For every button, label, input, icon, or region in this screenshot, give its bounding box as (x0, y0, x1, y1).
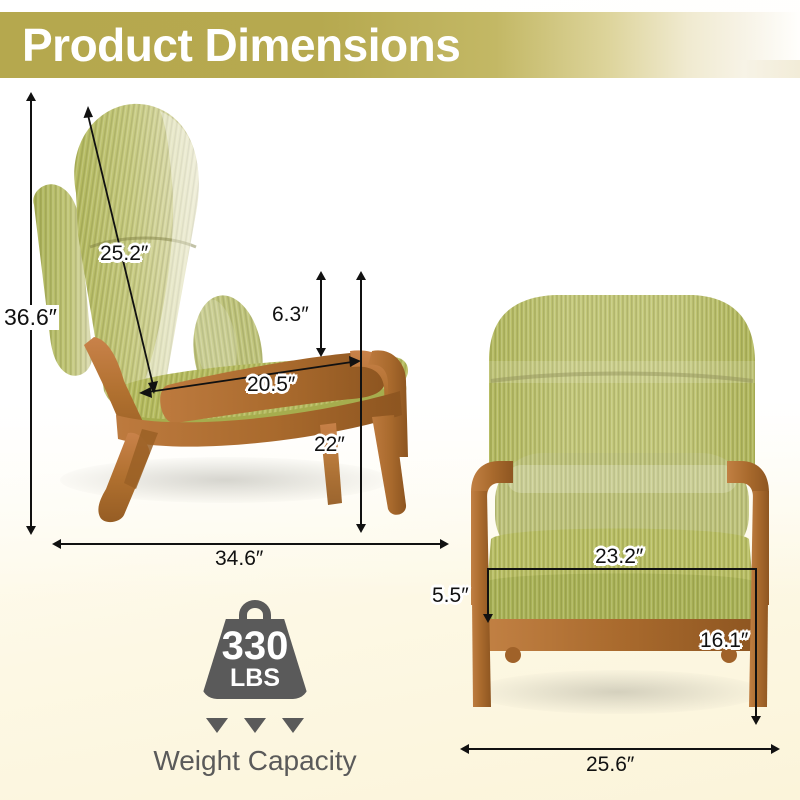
dim-seat-height-label: 16.1″ (700, 630, 748, 651)
dim-seat-height-arrow (751, 716, 761, 725)
front-chair-illustration (455, 275, 785, 775)
dim-seat-width-label: 23.2″ (595, 546, 643, 567)
dim-overall-height-arrow-top (26, 92, 36, 101)
header-banner: Product Dimensions (0, 12, 800, 78)
weight-capacity-unit: LBS (187, 666, 323, 691)
triangle-down-icon (206, 718, 228, 733)
side-view-chair (20, 85, 440, 535)
dim-armrest-height-line (320, 278, 322, 352)
dim-backrest-length-label: 25.2″ (100, 243, 148, 264)
page-title: Product Dimensions (0, 22, 460, 68)
dim-arm-height-arrow-bottom (356, 524, 366, 533)
dim-armrest-height-arrow-top (316, 271, 326, 280)
weight-capacity-block: 330 LBS Weight Capacity (130, 600, 380, 777)
dim-overall-height-arrow-bottom (26, 526, 36, 535)
dim-seat-depth-label: 20.5″ (247, 374, 295, 395)
dim-seat-height-line (755, 568, 757, 720)
weight-capacity-caption: Weight Capacity (130, 745, 380, 777)
dim-overall-width-label: 25.6″ (586, 754, 634, 775)
triangle-down-icon (244, 718, 266, 733)
dim-overall-depth-arrow-right (440, 539, 449, 549)
dim-overall-width-arrow-right (771, 744, 780, 754)
dim-overall-width-line (468, 748, 773, 750)
dim-cushion-thickness-line (487, 568, 489, 618)
dim-overall-width-arrow-left (460, 744, 469, 754)
dim-cushion-thickness-label: 5.5″ (432, 585, 469, 606)
dim-overall-depth-line (60, 543, 442, 545)
weight-icon: 330 LBS (187, 600, 323, 712)
dim-arm-height-line (360, 278, 362, 528)
side-chair-illustration (20, 85, 440, 535)
dim-armrest-height-arrow-bottom (316, 348, 326, 357)
dim-armrest-height-label: 6.3″ (272, 304, 309, 325)
weight-arrows-group (130, 718, 380, 733)
front-view-chair (455, 275, 785, 775)
dim-cushion-thickness-arrow (483, 614, 493, 623)
dim-overall-depth-arrow-left (52, 539, 61, 549)
dim-overall-height-label: 36.6″ (2, 305, 59, 330)
triangle-down-icon (282, 718, 304, 733)
dim-overall-depth-label: 34.6″ (215, 548, 263, 569)
weight-capacity-number: 330 (187, 626, 323, 666)
infographic-canvas: SIZE Product Dimensions (0, 0, 800, 800)
dim-seat-width-line (487, 568, 755, 570)
dim-arm-height-label: 22″ (314, 434, 345, 455)
dim-arm-height-arrow-top (356, 271, 366, 280)
